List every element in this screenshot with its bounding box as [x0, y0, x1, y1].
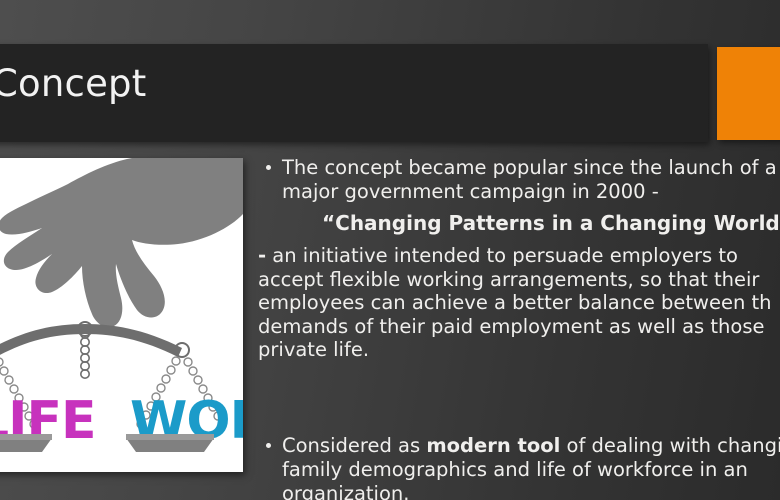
paragraph-line2: accept flexible working arrangements, so…	[258, 268, 780, 292]
paragraph-line1: - an initiative intended to persuade emp…	[258, 244, 780, 268]
bullet2-post: of dealing with changi	[560, 434, 780, 457]
presentation-slide: Concept	[0, 0, 780, 500]
paragraph-line5: private life.	[258, 338, 780, 362]
paragraph-line3: employees can achieve a better balance b…	[258, 291, 780, 315]
body-content: The concept became popular since the lau…	[262, 156, 780, 276]
campaign-quote: “Changing Patterns in a Changing World”	[322, 210, 780, 236]
bullet1-line1: The concept became popular since the lau…	[282, 156, 780, 180]
paragraph-line1-text: an initiative intended to persuade emplo…	[266, 244, 738, 267]
hanging-chain	[81, 330, 89, 378]
page-title: Concept	[0, 62, 146, 105]
bullet2-bold: modern tool	[426, 434, 560, 457]
bullet2-line2: family demographics and life of workforc…	[282, 458, 780, 482]
bullet-item-2: Considered as modern tool of dealing wit…	[262, 434, 780, 500]
scale-illustration: LIFE WORK	[0, 158, 243, 472]
bullet2-pre: Considered as	[282, 434, 426, 457]
bullet1-line2: major government campaign in 2000 -	[282, 180, 780, 204]
bullet-dot-icon	[266, 443, 271, 448]
paragraph-dash: -	[258, 244, 266, 267]
initiative-paragraph: - an initiative intended to persuade emp…	[258, 244, 780, 362]
bullet-item-1: The concept became popular since the lau…	[262, 156, 780, 204]
bullet-dot-icon	[266, 165, 271, 170]
orange-accent-block	[717, 47, 780, 140]
right-scale-pan	[126, 434, 214, 452]
bullet2-line3: organization.	[282, 482, 780, 500]
bullet2-line1: Considered as modern tool of dealing wit…	[282, 434, 780, 458]
work-life-balance-image: LIFE WORK	[0, 158, 243, 472]
paragraph-line4: demands of their paid employment as well…	[258, 315, 780, 339]
